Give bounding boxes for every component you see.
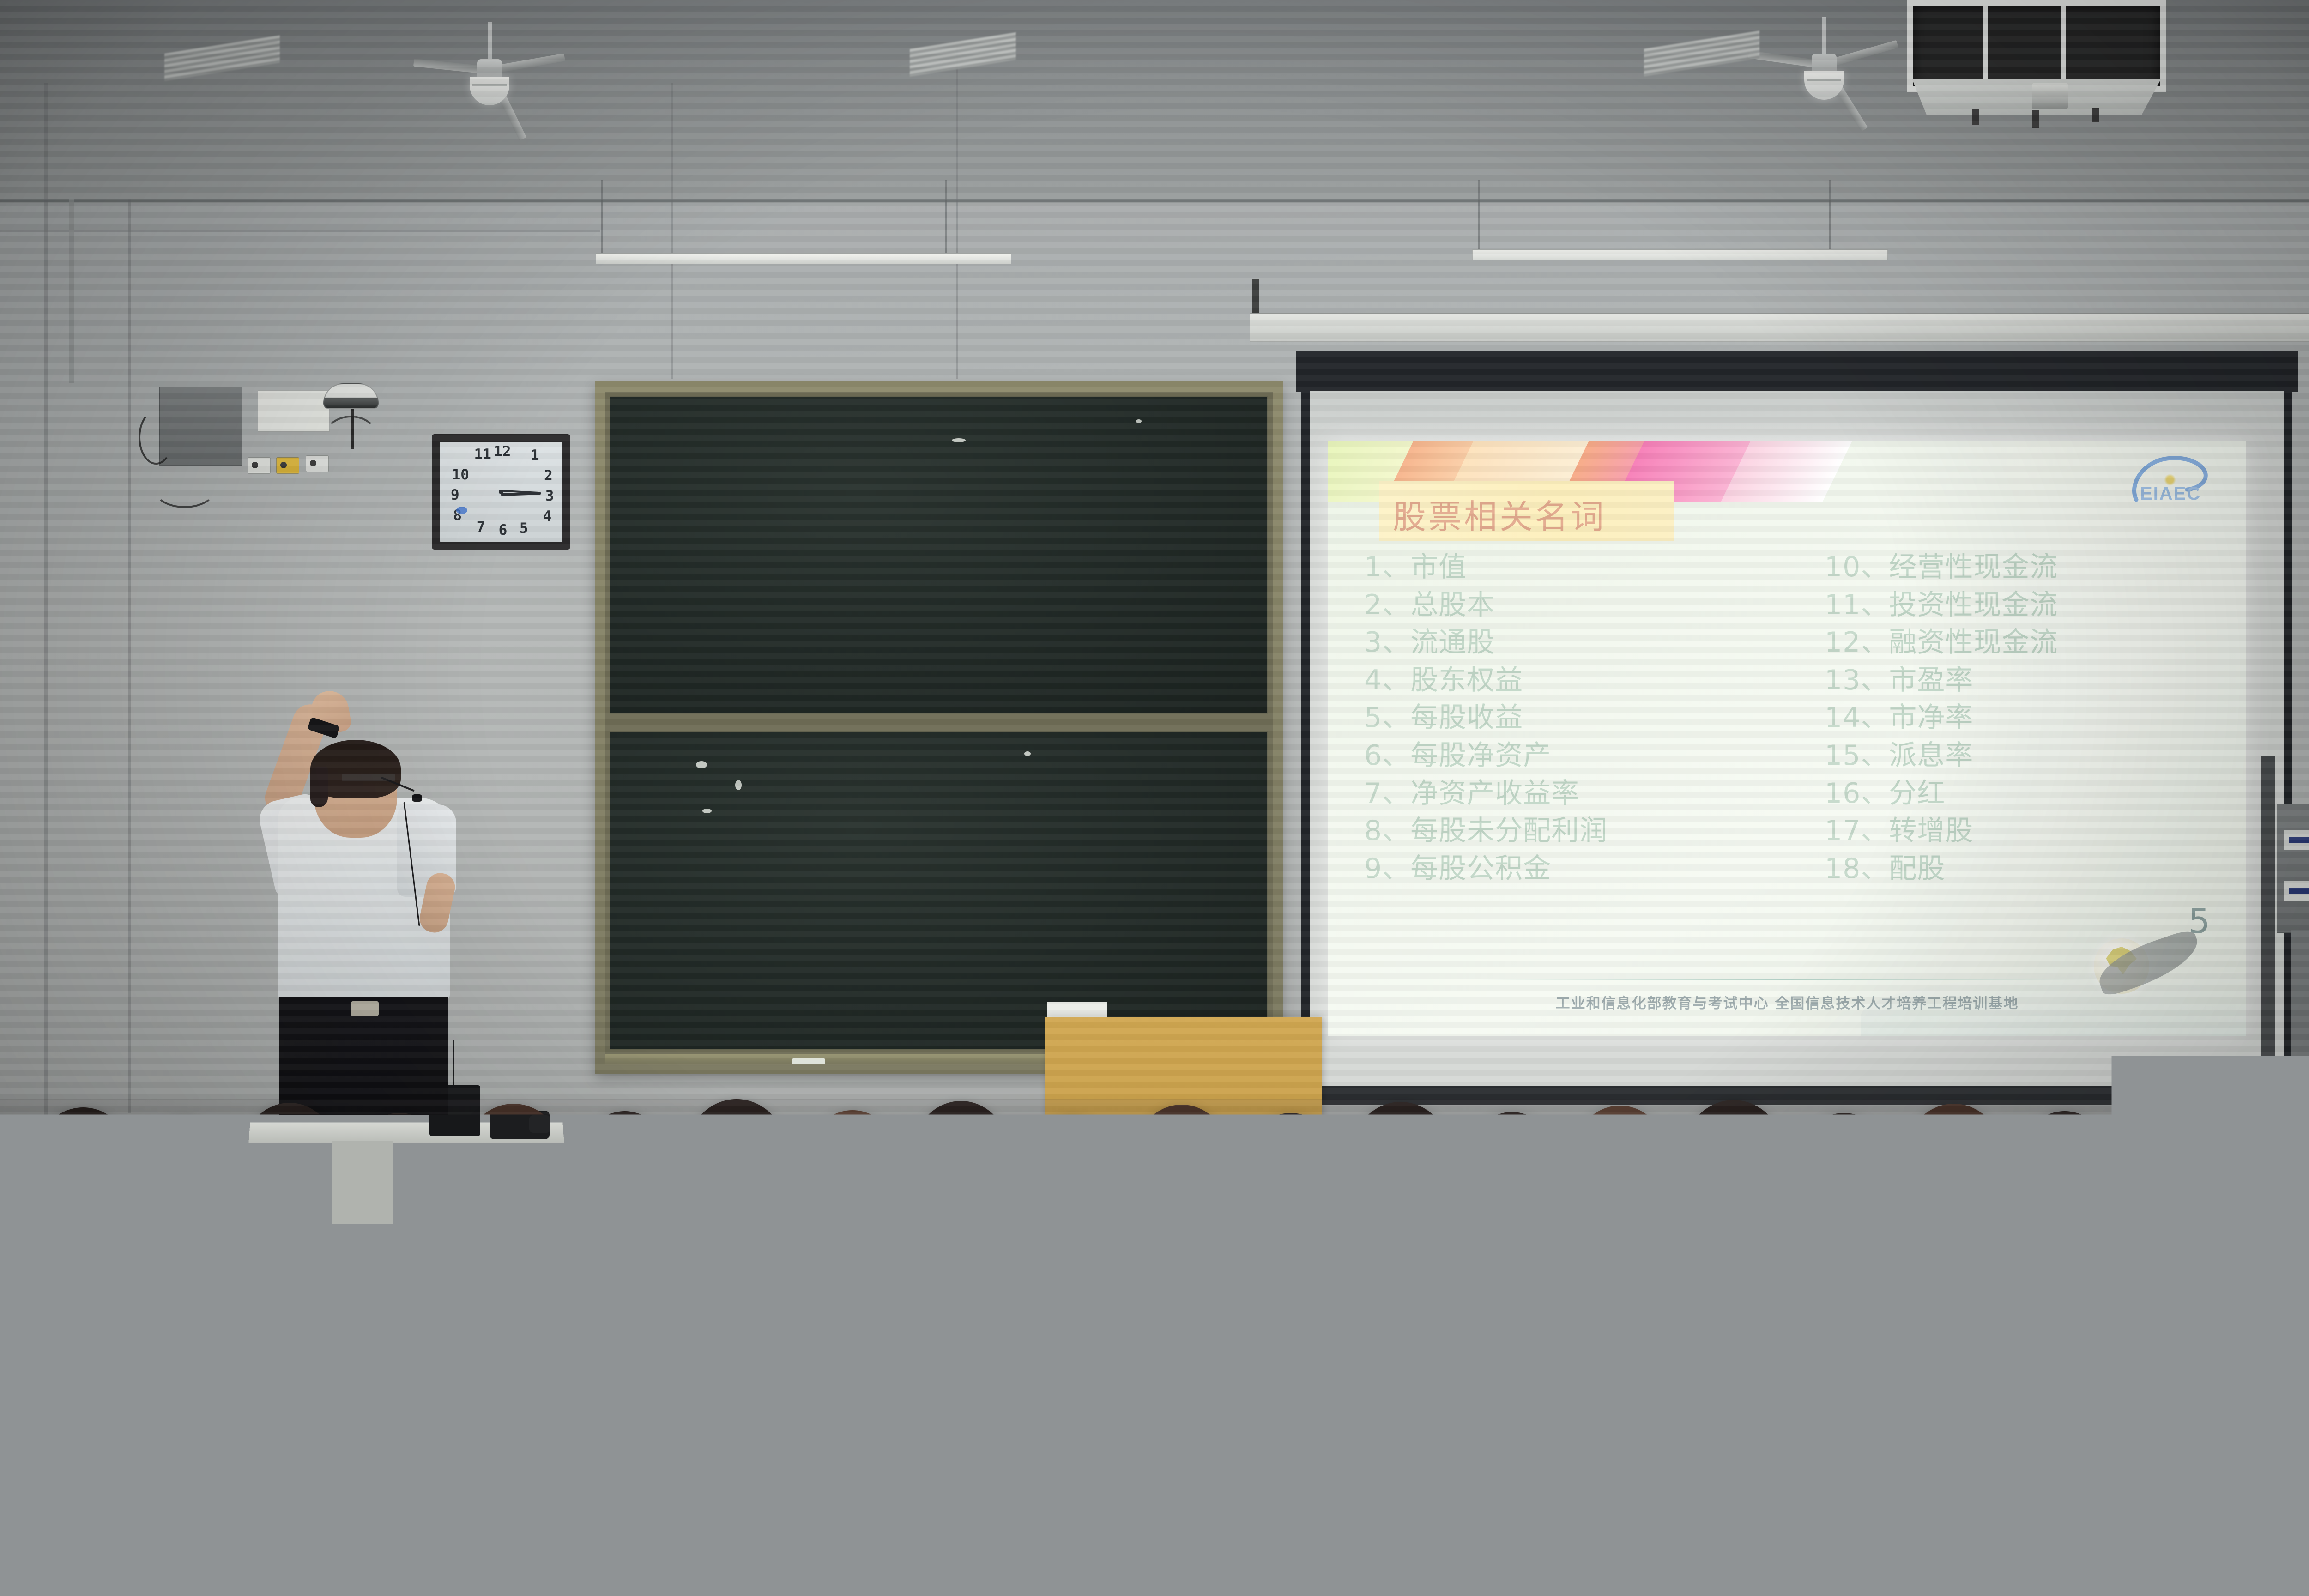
cage-bar	[1983, 6, 1988, 86]
power-socket	[248, 457, 271, 474]
audience-head	[1903, 1104, 2005, 1220]
item-index: 15、	[1825, 739, 1889, 772]
audience-head	[683, 1099, 790, 1220]
audience-head	[804, 1110, 901, 1225]
slide-list-item: 16、分红	[1825, 775, 2218, 813]
audience-head	[217, 1210, 333, 1347]
audience-head	[831, 1225, 941, 1355]
audience-head	[2240, 1109, 2309, 1224]
projector-mount-foot	[1972, 109, 1979, 125]
item-term: 分红	[1889, 777, 1945, 810]
item-term: 市值	[1410, 551, 1467, 583]
audience-head	[1570, 1222, 1682, 1354]
audience-head	[462, 1104, 565, 1221]
audience-head	[1196, 1210, 1313, 1348]
audience-head	[1940, 1213, 2055, 1348]
audience-head	[2184, 1372, 2309, 1554]
item-index: 14、	[1825, 701, 1889, 734]
green-water-bottle	[1519, 1505, 1570, 1596]
audience-head	[1076, 1223, 1187, 1354]
slide-list-item: 10、经营性现金流	[1825, 549, 2218, 586]
audience-head	[1348, 1102, 1453, 1220]
clock-face: 12 1 2 3 4 5 6 7 8 9 10 11	[440, 442, 562, 542]
light-hanger	[1829, 180, 1831, 254]
clock-number: 2	[544, 469, 553, 483]
chalkboard-inner	[605, 392, 1273, 1064]
slide-list-item: 6、每股净资产	[1364, 737, 1791, 775]
slide-list-item: 11、投资性现金流	[1825, 586, 2218, 624]
item-term: 股东权益	[1410, 664, 1523, 696]
slide-list-item: 2、总股本	[1364, 586, 1791, 624]
clock-number: 10	[452, 468, 469, 482]
audience-head	[1796, 1113, 1892, 1224]
slide-list-item: 7、净资产收益率	[1364, 775, 1791, 813]
chalkboard-panel-upper	[610, 396, 1268, 714]
audience-head	[0, 1210, 115, 1344]
item-term: 转增股	[1889, 815, 1973, 847]
audience-head	[577, 1111, 672, 1224]
light-hanger	[945, 180, 947, 259]
audience-torso-navy	[139, 1515, 360, 1596]
audience-head	[457, 1214, 572, 1348]
item-index: 12、	[1825, 626, 1889, 659]
breaker-row	[2284, 830, 2309, 850]
item-term: 融资性现金流	[1889, 626, 2058, 659]
item-index: 8、	[1364, 815, 1410, 847]
slide-list-item: 1、市值	[1364, 549, 1791, 586]
audience-head	[1690, 1209, 1808, 1348]
item-index: 16、	[1825, 777, 1889, 810]
hanging-cable	[139, 410, 174, 465]
logo-text: EIAEC	[2140, 484, 2201, 504]
slide-list-item: 5、每股收益	[1364, 699, 1791, 737]
clock-number: 4	[543, 509, 551, 524]
item-term: 每股净资产	[1410, 739, 1551, 772]
item-index: 2、	[1364, 589, 1410, 621]
audience-head	[2184, 1210, 2303, 1348]
audience-head	[951, 1212, 1068, 1348]
wall-notice-paper	[258, 390, 330, 432]
audience-head	[406, 1369, 553, 1548]
audience-head	[1464, 1112, 1560, 1224]
teal-hair-scrunchie	[1104, 1552, 1173, 1589]
clock-number: 1	[531, 448, 539, 463]
slide-page-number: 5	[2188, 901, 2210, 941]
fan-rod	[1822, 17, 1826, 57]
audience-head	[106, 1223, 217, 1353]
audience-torso-yellow	[711, 1505, 951, 1596]
chalkboard	[595, 381, 1283, 1074]
projection-screen: EIAEC 股票相关名词 1、市值 2、总股本 3、流通股 4、股东权益 5、每…	[1301, 391, 2292, 1094]
presenter-hair-side	[310, 767, 328, 807]
presentation-slide: EIAEC 股票相关名词 1、市值 2、总股本 3、流通股 4、股东权益 5、每…	[1328, 441, 2246, 1036]
slide-column-left: 1、市值 2、总股本 3、流通股 4、股东权益 5、每股收益 6、每股净资产 7…	[1364, 549, 1791, 888]
audience-head	[1445, 1212, 1561, 1347]
slide-list-item: 15、派息率	[1825, 737, 2218, 775]
clock-number: 11	[474, 447, 491, 462]
wall-seam	[671, 83, 673, 379]
audience-head	[240, 1103, 339, 1216]
audience-head	[1819, 1225, 1929, 1355]
fluorescent-tube	[1472, 249, 1888, 260]
audience-head	[545, 1351, 700, 1539]
cage-bar	[2061, 6, 2066, 86]
audience-head	[249, 1348, 406, 1539]
audience-head	[342, 1225, 451, 1354]
projector-mount-foot	[2092, 108, 2099, 122]
wall-seam	[0, 230, 600, 232]
slide-list-item: 14、市净率	[1825, 699, 2218, 737]
item-term: 投资性现金流	[1889, 589, 2058, 621]
audience-head	[1570, 1106, 1670, 1221]
panel-conduit	[2291, 930, 2309, 1082]
audience-head	[582, 1221, 693, 1353]
presenter-belt-buckle	[351, 1001, 379, 1016]
slide-title: 股票相关名词	[1393, 490, 1606, 538]
item-index: 6、	[1364, 739, 1410, 772]
slide-list-item: 3、流通股	[1364, 624, 1791, 662]
item-index: 7、	[1364, 777, 1410, 810]
item-index: 3、	[1364, 626, 1410, 659]
audience-head	[32, 1107, 134, 1223]
slide-list-item: 18、配股	[1825, 850, 2218, 888]
power-socket-amber	[276, 457, 299, 474]
chair-back	[942, 1487, 1081, 1570]
fluorescent-tube	[596, 253, 1011, 264]
slide-footer-text: 工业和信息化部教育与考试中心 全国信息技术人才培养工程培训基地	[1328, 991, 2246, 1012]
item-term: 流通股	[1410, 626, 1495, 659]
eiaec-logo: EIAEC	[2128, 452, 2216, 507]
clock-number: 3	[545, 489, 554, 503]
wall-seam	[44, 83, 48, 1136]
clock-number: 9	[451, 488, 459, 502]
audience-area	[0, 1099, 2309, 1596]
item-term: 净资产收益率	[1410, 777, 1579, 810]
slide-column-right: 10、经营性现金流 11、投资性现金流 12、融资性现金流 13、市盈率 14、…	[1791, 549, 2218, 888]
audience-head	[1131, 1105, 1232, 1221]
audience-head	[1732, 1349, 1892, 1542]
item-index: 11、	[1825, 589, 1889, 621]
projector-lens	[2032, 83, 2068, 109]
clock-number: 7	[477, 520, 485, 535]
light-hanger	[601, 180, 603, 259]
clock-number: 6	[499, 523, 508, 538]
clock-number: 12	[494, 445, 511, 459]
item-index: 4、	[1364, 664, 1410, 696]
slide-list-item: 4、股东权益	[1364, 662, 1791, 700]
projector-mount-foot	[2032, 110, 2039, 128]
breaker-row	[2284, 881, 2309, 901]
slide-footer-rule	[1481, 979, 2094, 980]
slide-list-item: 17、转增股	[1825, 812, 2218, 850]
hanging-cable	[152, 466, 217, 508]
item-term: 每股收益	[1410, 701, 1523, 734]
audience-head	[1025, 1115, 1119, 1225]
item-index: 18、	[1825, 852, 1889, 885]
classroom-scene: 12 1 2 3 4 5 6 7 8 9 10 11	[0, 0, 2309, 1596]
screen-top-band	[1296, 351, 2298, 392]
slide-list-item: 12、融资性现金流	[1825, 624, 2218, 662]
fan-rod	[488, 22, 492, 63]
audience-head	[139, 1116, 231, 1226]
audience-head	[1136, 1350, 1294, 1541]
item-term: 派息率	[1889, 739, 1973, 772]
chalk-piece	[792, 1058, 825, 1064]
item-index: 13、	[1825, 664, 1889, 696]
item-term: 总股本	[1410, 589, 1495, 621]
pink-hair-scrunchie	[2189, 1429, 2249, 1457]
audience-head	[1242, 1113, 1339, 1226]
audience-head	[2304, 1222, 2309, 1354]
headset-mic-capsule	[412, 794, 422, 802]
item-index: 17、	[1825, 815, 1889, 847]
clock-number: 5	[520, 521, 528, 536]
dome-security-camera	[323, 383, 379, 409]
screen-roller-housing	[1250, 313, 2309, 342]
item-index: 1、	[1364, 551, 1410, 583]
item-index: 10、	[1825, 551, 1889, 583]
item-term: 每股未分配利润	[1410, 815, 1608, 847]
slide-list-item: 8、每股未分配利润	[1364, 812, 1791, 850]
wall-clock: 12 1 2 3 4 5 6 7 8 9 10 11	[432, 434, 570, 550]
audience-head	[2124, 1102, 2228, 1220]
camera-cable	[323, 416, 379, 462]
clock-center-pin	[499, 490, 503, 494]
power-socket	[306, 455, 329, 472]
item-term: 经营性现金流	[1889, 551, 2058, 583]
slide-term-columns: 1、市值 2、总股本 3、流通股 4、股东权益 5、每股收益 6、每股净资产 7…	[1364, 549, 2218, 888]
audience-head	[910, 1101, 1012, 1220]
item-term: 配股	[1889, 852, 1945, 885]
item-term: 市盈率	[1889, 664, 1973, 696]
electrical-breaker-panel	[2277, 804, 2309, 933]
audience-ponytail	[1815, 1422, 1856, 1552]
chair-back	[2000, 1482, 2138, 1570]
item-index: 9、	[1364, 852, 1410, 885]
clock-face-mark	[456, 507, 467, 514]
audience-head	[1681, 1100, 1786, 1219]
blue-thermos-bottle	[868, 1510, 914, 1596]
audience-head	[2016, 1111, 2113, 1224]
wall-conduit	[69, 199, 74, 383]
chalkboard-panel-lower	[610, 731, 1268, 1050]
slide-list-item: 13、市盈率	[1825, 662, 2218, 700]
slide-list-item: 9、每股公积金	[1364, 850, 1791, 888]
item-term: 每股公积金	[1410, 852, 1551, 885]
audience-head	[351, 1113, 448, 1224]
light-hanger	[1478, 180, 1480, 254]
item-term: 市净率	[1889, 701, 1973, 734]
ceiling-wall-joint	[0, 199, 2309, 202]
audience-ponytail	[628, 1422, 668, 1542]
wall-seam	[128, 199, 131, 1113]
wall-seam	[956, 46, 958, 379]
item-index: 5、	[1364, 701, 1410, 734]
